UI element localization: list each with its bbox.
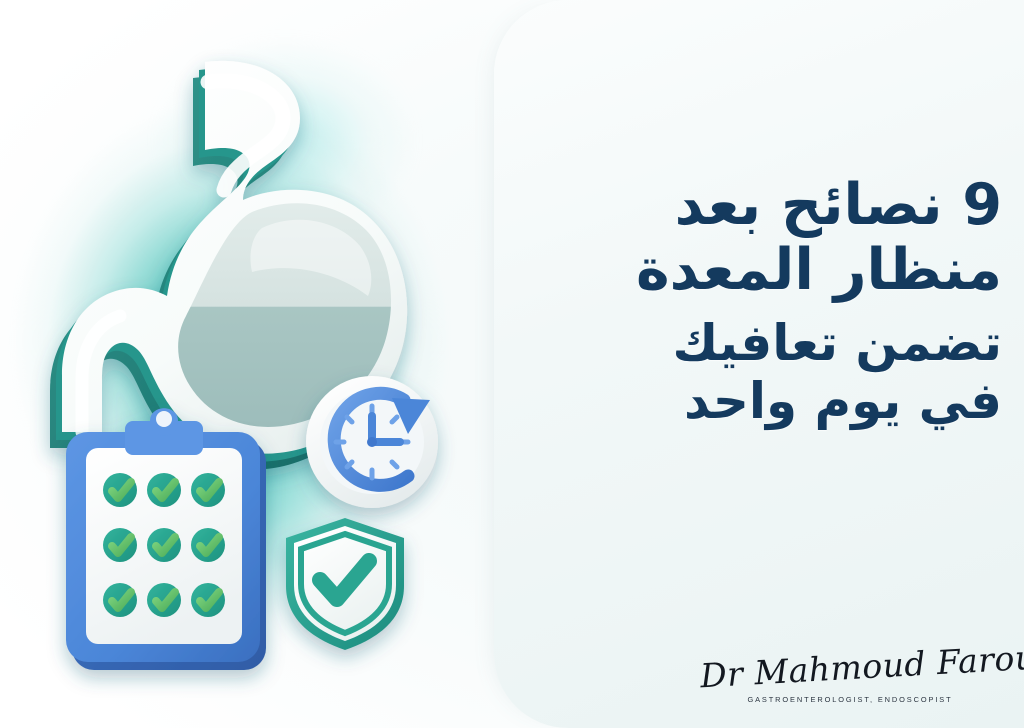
headline-block: 9 نصائح بعد منظار المعدة تضمن تعافيك في … — [522, 176, 1002, 427]
signature-role: GASTROENTEROLOGIST, ENDOSCOPIST — [700, 695, 1000, 704]
headline-line-4: في يوم واحد — [522, 375, 1002, 427]
clipboard-check-grid — [103, 473, 225, 617]
clock-rotate-icon — [306, 376, 438, 508]
headline-line-3: تضمن تعافيك — [522, 317, 1002, 369]
signature-name: Dr Mahmoud Farouk — [699, 643, 1000, 693]
headline-line-2: منظار المعدة — [522, 241, 1002, 300]
content-panel: 9 نصائح بعد منظار المعدة تضمن تعافيك في … — [494, 0, 1024, 728]
illustration-group — [0, 0, 500, 728]
signature-block: Dr Mahmoud Farouk GASTROENTEROLOGIST, EN… — [700, 651, 1000, 704]
poster-canvas: 9 نصائح بعد منظار المعدة تضمن تعافيك في … — [0, 0, 1024, 728]
shield-check-icon — [286, 518, 404, 650]
headline-line-1: 9 نصائح بعد — [522, 176, 1002, 235]
clipboard-checklist-icon — [66, 408, 266, 670]
